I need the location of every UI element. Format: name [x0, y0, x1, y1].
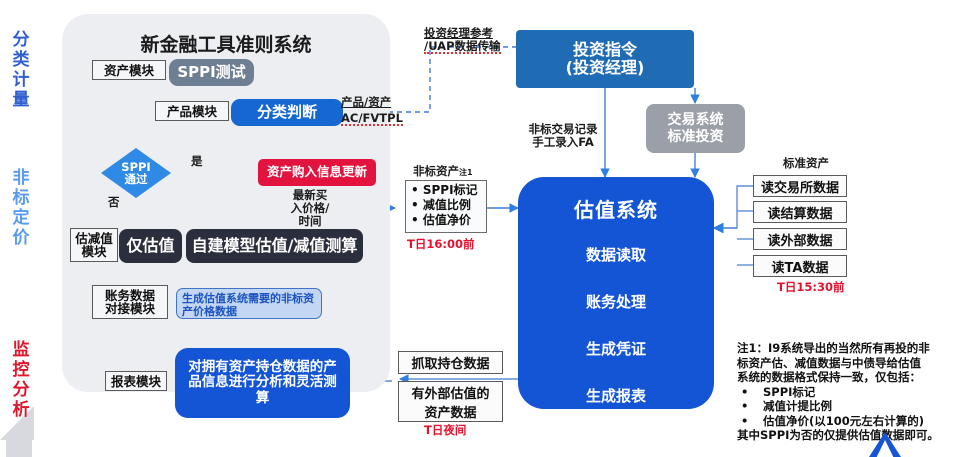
- card-title: 新金融工具准则系统: [62, 30, 390, 57]
- night-deadline: T日夜间: [424, 424, 466, 437]
- data-source-settlement: 读结算数据: [753, 201, 847, 223]
- label-latest-purchase-price: 最新买 入价格/ 时间: [287, 189, 333, 228]
- module-plate-accounting-data: 账务数据 对接模块: [92, 285, 168, 319]
- standard-asset-title: 标准资产: [783, 157, 829, 170]
- nonstandard-deadline: T日16:00前: [407, 238, 474, 251]
- data-source-ta: 读TA数据: [753, 255, 847, 277]
- module-plate-report: 报表模块: [105, 371, 167, 391]
- module-plate-product: 产品模块: [155, 101, 229, 121]
- only-valuation-box[interactable]: 仅估值: [119, 229, 182, 263]
- valuation-system-title: 估值系统: [574, 194, 658, 223]
- label-manual-fa-entry: 非标交易记录 手工录入FA: [518, 123, 608, 149]
- fetch-position-data-box: 抓取持仓数据: [398, 351, 503, 374]
- module-plate-asset: 资产模块: [92, 60, 166, 80]
- data-source-exchange: 读交易所数据: [753, 175, 847, 197]
- valuation-row-data-read: 数据读取: [586, 244, 646, 265]
- valuation-data-callout: 生成估值系统需要的非标资产价格数据: [176, 288, 322, 319]
- label-im-reference: 投资经理参考 /UAP数据传输: [424, 27, 518, 54]
- decorative-shape-left-2: [6, 440, 32, 457]
- sppi-test-box[interactable]: SPPI测试: [169, 59, 254, 86]
- external-valuation-assets-box: 有外部估值的 资产数据: [398, 381, 503, 422]
- diagram-canvas: 分 类 计 量 非 标 定 价 监 控 分 析 新金融工具准则系统 资产模块 S…: [0, 0, 969, 457]
- report-analysis-box[interactable]: 对拥有资产持仓数据的产品信息进行分析和灵活测算: [175, 348, 350, 418]
- stage-label-classification: 分 类 计 量: [4, 30, 38, 110]
- valuation-row-vouchers: 生成凭证: [586, 338, 646, 359]
- classification-judgment-box[interactable]: 分类判断: [231, 99, 343, 126]
- stage-label-monitoring-analysis: 监 控 分 析: [4, 340, 38, 420]
- footnote-block: 注1：I9系统导出的当然所有再投的非 标资产估、减值数据与中债导给估值 系统的数…: [737, 341, 965, 443]
- decision-no-label: 否: [108, 196, 120, 209]
- stage-label-nonstandard-pricing: 非 标 定 价: [4, 168, 38, 248]
- label-product-asset: 产品/资产 AC/FVTPL: [341, 96, 401, 126]
- valuation-system-box[interactable]: 估值系统 数据读取 账务处理 生成凭证 生成报表: [518, 177, 714, 409]
- trade-system-box[interactable]: 交易系统 标准投资: [646, 104, 745, 153]
- module-plate-impairment: 估减值 模块: [70, 228, 118, 262]
- asset-purchase-update-box[interactable]: 资产购入信息更新: [258, 159, 376, 186]
- nonstandard-asset-title: 非标资产注1: [413, 165, 473, 179]
- self-built-model-valuation-box[interactable]: 自建模型估值/减值测算: [186, 229, 363, 263]
- investment-instruction-box[interactable]: 投资指令 (投资经理): [516, 30, 694, 88]
- nonstandard-asset-items: SPPI标记 减值比例 估值净价: [405, 180, 487, 233]
- data-source-external: 读外部数据: [753, 228, 847, 250]
- decision-yes-label: 是: [191, 155, 203, 168]
- valuation-row-accounting: 账务处理: [586, 291, 646, 312]
- standard-asset-deadline: T日15:30前: [777, 281, 844, 294]
- valuation-row-reports: 生成报表: [586, 385, 646, 406]
- sppi-decision-diamond[interactable]: SPPI 通过: [101, 148, 171, 198]
